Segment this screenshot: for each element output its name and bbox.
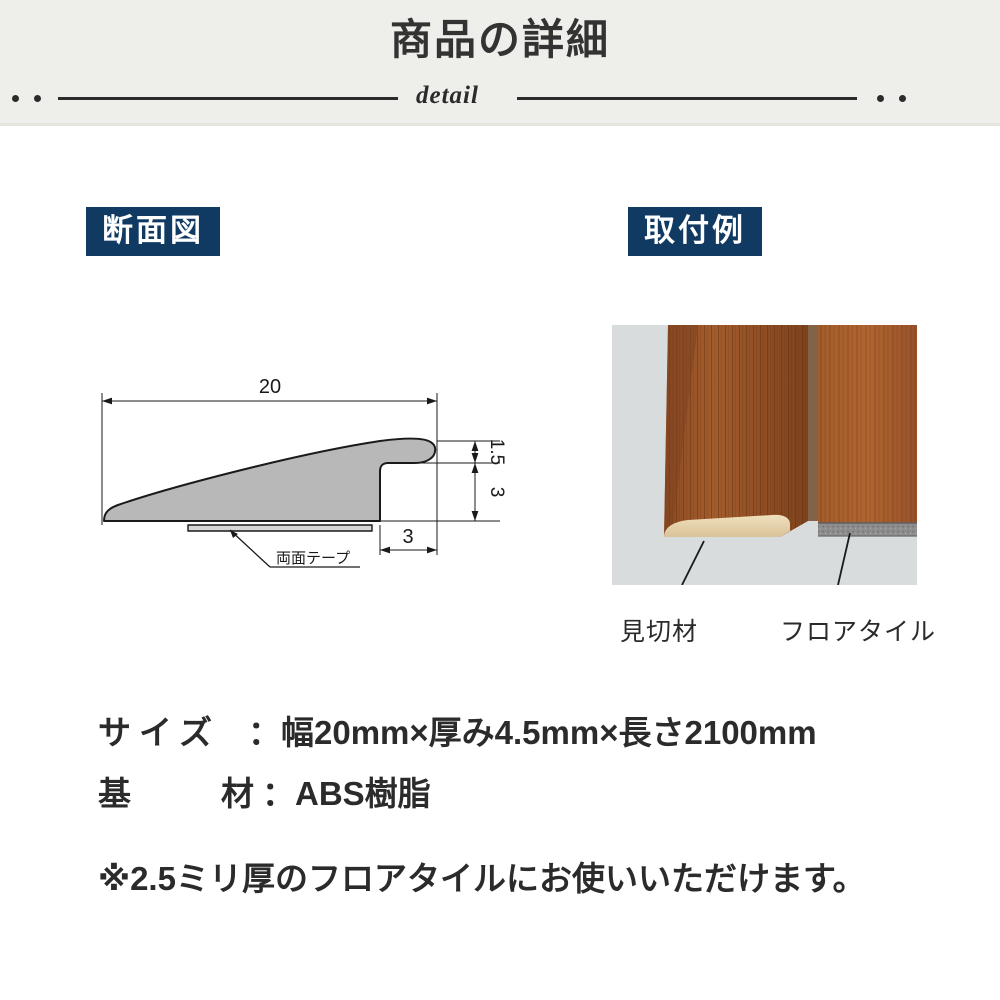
rule-dot-icon <box>34 95 41 102</box>
spec-label-material: 基 材 <box>98 777 262 810</box>
dimension-width: 20 <box>102 376 437 404</box>
installation-photo-svg <box>612 325 917 585</box>
section-badge-cross-section: 断面図 <box>86 207 220 256</box>
dimension-lower-height: 3 <box>472 463 507 521</box>
tape-callout-label: 両面テープ <box>276 550 350 567</box>
rule-line-right <box>517 97 857 100</box>
dimension-upper-height-label: 1.5 <box>486 439 507 465</box>
dimension-upper-height: 1.5 <box>472 439 507 465</box>
header-script-label: detail <box>416 82 479 110</box>
rule-dot-icon <box>899 95 906 102</box>
dimension-step-width: 3 <box>380 526 437 553</box>
page-header: 商品の詳細 detail <box>0 0 1000 126</box>
header-decorative-rule: detail <box>0 86 1000 110</box>
dimension-step-width-label: 3 <box>402 526 413 548</box>
dimension-lower-height-label: 3 <box>486 487 507 498</box>
caption-molding: 見切材 <box>620 612 698 648</box>
rule-line-left <box>58 97 398 100</box>
spec-row-material: 基 材：ABS樹脂 <box>98 777 938 810</box>
tape-strip <box>188 525 372 531</box>
joint-seam <box>808 325 818 521</box>
dimension-width-label: 20 <box>259 376 281 398</box>
tile-cut-edge <box>818 523 917 536</box>
photo-caption-group: 見切材 フロアタイル <box>612 612 952 652</box>
usage-note: ※2.5ミリ厚のフロアタイルにお使いいただけます。 <box>98 852 866 900</box>
spec-value-material: ABS樹脂 <box>295 775 431 812</box>
caption-floor-tile: フロアタイル <box>780 612 936 648</box>
spec-separator: ： <box>248 714 281 751</box>
spec-value-size: 幅20mm×厚み4.5mm×長さ2100mm <box>281 714 817 751</box>
rule-dot-icon <box>877 95 884 102</box>
spec-label-size: サイズ <box>98 716 248 749</box>
rule-dot-icon <box>12 95 19 102</box>
profile-outline <box>104 439 435 521</box>
cross-section-svg: 20 両面テープ 1.5 3 <box>80 375 540 595</box>
page-title: 商品の詳細 <box>0 16 1000 64</box>
section-badge-installation-example: 取付例 <box>628 207 762 256</box>
spec-row-size: サイズ：幅20mm×厚み4.5mm×長さ2100mm <box>98 716 938 749</box>
spec-separator: ： <box>262 775 295 812</box>
installation-photo <box>612 325 917 585</box>
cross-section-drawing: 20 両面テープ 1.5 3 <box>80 375 540 595</box>
specification-list: サイズ：幅20mm×厚み4.5mm×長さ2100mm 基 材：ABS樹脂 <box>98 716 938 838</box>
